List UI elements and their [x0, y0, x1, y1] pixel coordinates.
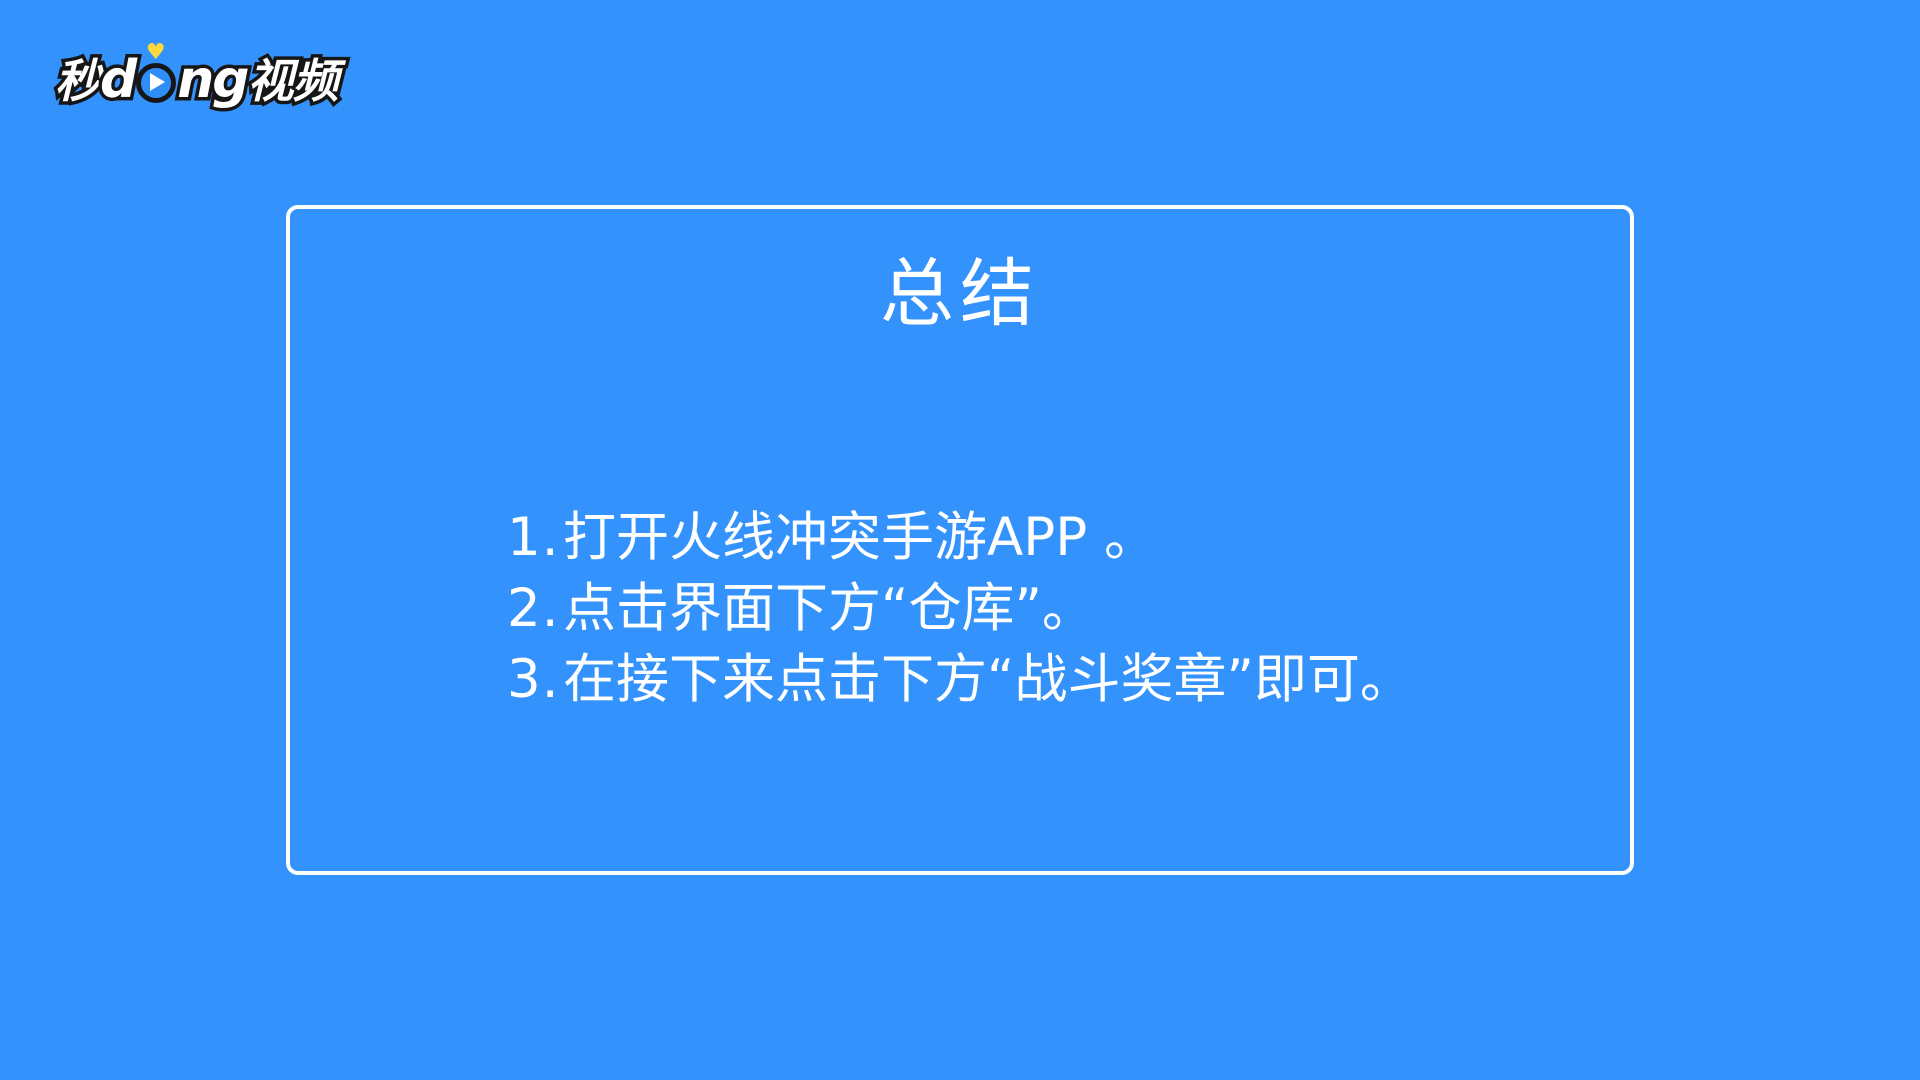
- step-text: 点击界面下方“仓库”。: [563, 573, 1095, 644]
- page-title: 总结: [290, 257, 1630, 331]
- brand-logo-letters-ng: ng: [177, 50, 247, 110]
- step-text: 打开火线冲突手游APP 。: [563, 502, 1157, 573]
- summary-panel: 总结 1. 打开火线冲突手游APP 。 2. 点击界面下方“仓库”。 3. 在接…: [286, 205, 1634, 875]
- brand-logo-cn-prefix: 秒: [55, 54, 100, 108]
- brand-logo: 秒d♥ng视频: [55, 44, 355, 116]
- brand-logo-letter-d: d: [100, 50, 135, 110]
- brand-logo-cn-suffix: 视频: [247, 54, 337, 108]
- heart-icon: ♥: [144, 43, 166, 63]
- slide-canvas: 秒d♥ng视频 总结 1. 打开火线冲突手游APP 。 2. 点击界面下方“仓库…: [0, 0, 1920, 1080]
- steps-list: 1. 打开火线冲突手游APP 。 2. 点击界面下方“仓库”。 3. 在接下来点…: [507, 502, 1413, 715]
- play-icon: [150, 73, 165, 91]
- step-number: 1.: [507, 502, 563, 573]
- list-item: 2. 点击界面下方“仓库”。: [507, 573, 1413, 644]
- step-number: 2.: [507, 573, 563, 644]
- list-item: 3. 在接下来点击下方“战斗奖章”即可。: [507, 644, 1413, 715]
- brand-logo-play-badge: ♥: [136, 63, 176, 103]
- step-number: 3.: [507, 644, 563, 715]
- brand-logo-text: 秒d♥ng视频: [55, 54, 337, 106]
- step-text: 在接下来点击下方“战斗奖章”即可。: [563, 644, 1413, 715]
- list-item: 1. 打开火线冲突手游APP 。: [507, 502, 1413, 573]
